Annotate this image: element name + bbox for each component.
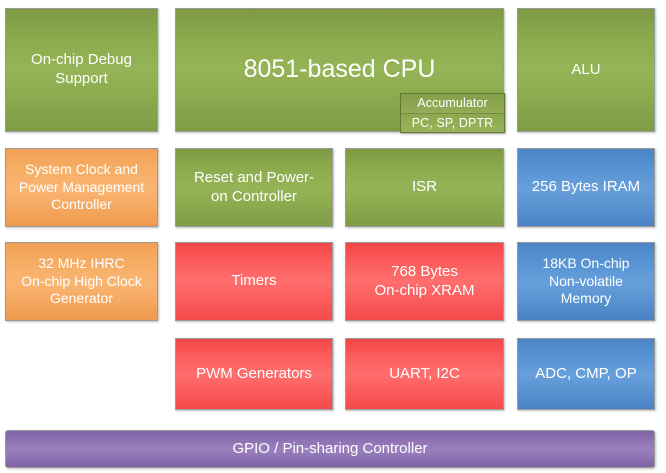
block-label: 32 MHz IHRC On-chip High Clock Generator xyxy=(12,255,151,308)
block-768-bytes-on-chip-xram[interactable]: 768 Bytes On-chip XRAM xyxy=(345,242,504,321)
block-label: 8051-based CPU xyxy=(182,54,497,85)
block-uart-i2c[interactable]: UART, I2C xyxy=(345,338,504,410)
block-label: UART, I2C xyxy=(352,365,497,384)
block-label: ALU xyxy=(524,61,648,80)
cpu-register-box[interactable]: Accumulator PC, SP, DPTR xyxy=(400,93,505,133)
block-18kb-on-chip-non-volatile-memory[interactable]: 18KB On-chip Non-volatile Memory xyxy=(517,242,655,321)
block-reset-and-power-on-controller[interactable]: Reset and Power- on Controller xyxy=(175,148,333,227)
block-isr[interactable]: ISR xyxy=(345,148,504,227)
block-pwm-generators[interactable]: PWM Generators xyxy=(175,338,333,410)
block-adc-cmp-op[interactable]: ADC, CMP, OP xyxy=(517,338,655,410)
block-label: Timers xyxy=(182,272,326,291)
block-on-chip-debug-support[interactable]: On-chip Debug Support xyxy=(5,8,158,132)
block-label: 256 Bytes IRAM xyxy=(524,178,648,197)
block-32mhz-ihrc-on-chip-high-clock-generator[interactable]: 32 MHz IHRC On-chip High Clock Generator xyxy=(5,242,158,321)
block-label: PWM Generators xyxy=(182,365,326,384)
block-gpio-pin-sharing-controller[interactable]: GPIO / Pin-sharing Controller xyxy=(5,430,655,468)
block-label: GPIO / Pin-sharing Controller xyxy=(12,440,648,459)
block-timers[interactable]: Timers xyxy=(175,242,333,321)
block-label: On-chip Debug Support xyxy=(12,51,151,89)
block-label: System Clock and Power Management Contro… xyxy=(12,161,151,214)
block-diagram: On-chip Debug Support 8051-based CPU Acc… xyxy=(0,0,666,473)
block-label: 768 Bytes On-chip XRAM xyxy=(352,263,497,301)
block-label: ISR xyxy=(352,178,497,197)
block-label: 18KB On-chip Non-volatile Memory xyxy=(524,255,648,308)
pointer-registers-label: PC, SP, DPTR xyxy=(401,114,504,133)
block-alu[interactable]: ALU xyxy=(517,8,655,132)
block-label: Reset and Power- on Controller xyxy=(182,169,326,207)
block-system-clock-and-power-management-controller[interactable]: System Clock and Power Management Contro… xyxy=(5,148,158,227)
block-256-bytes-iram[interactable]: 256 Bytes IRAM xyxy=(517,148,655,227)
accumulator-label: Accumulator xyxy=(401,94,504,114)
block-label: ADC, CMP, OP xyxy=(524,365,648,384)
